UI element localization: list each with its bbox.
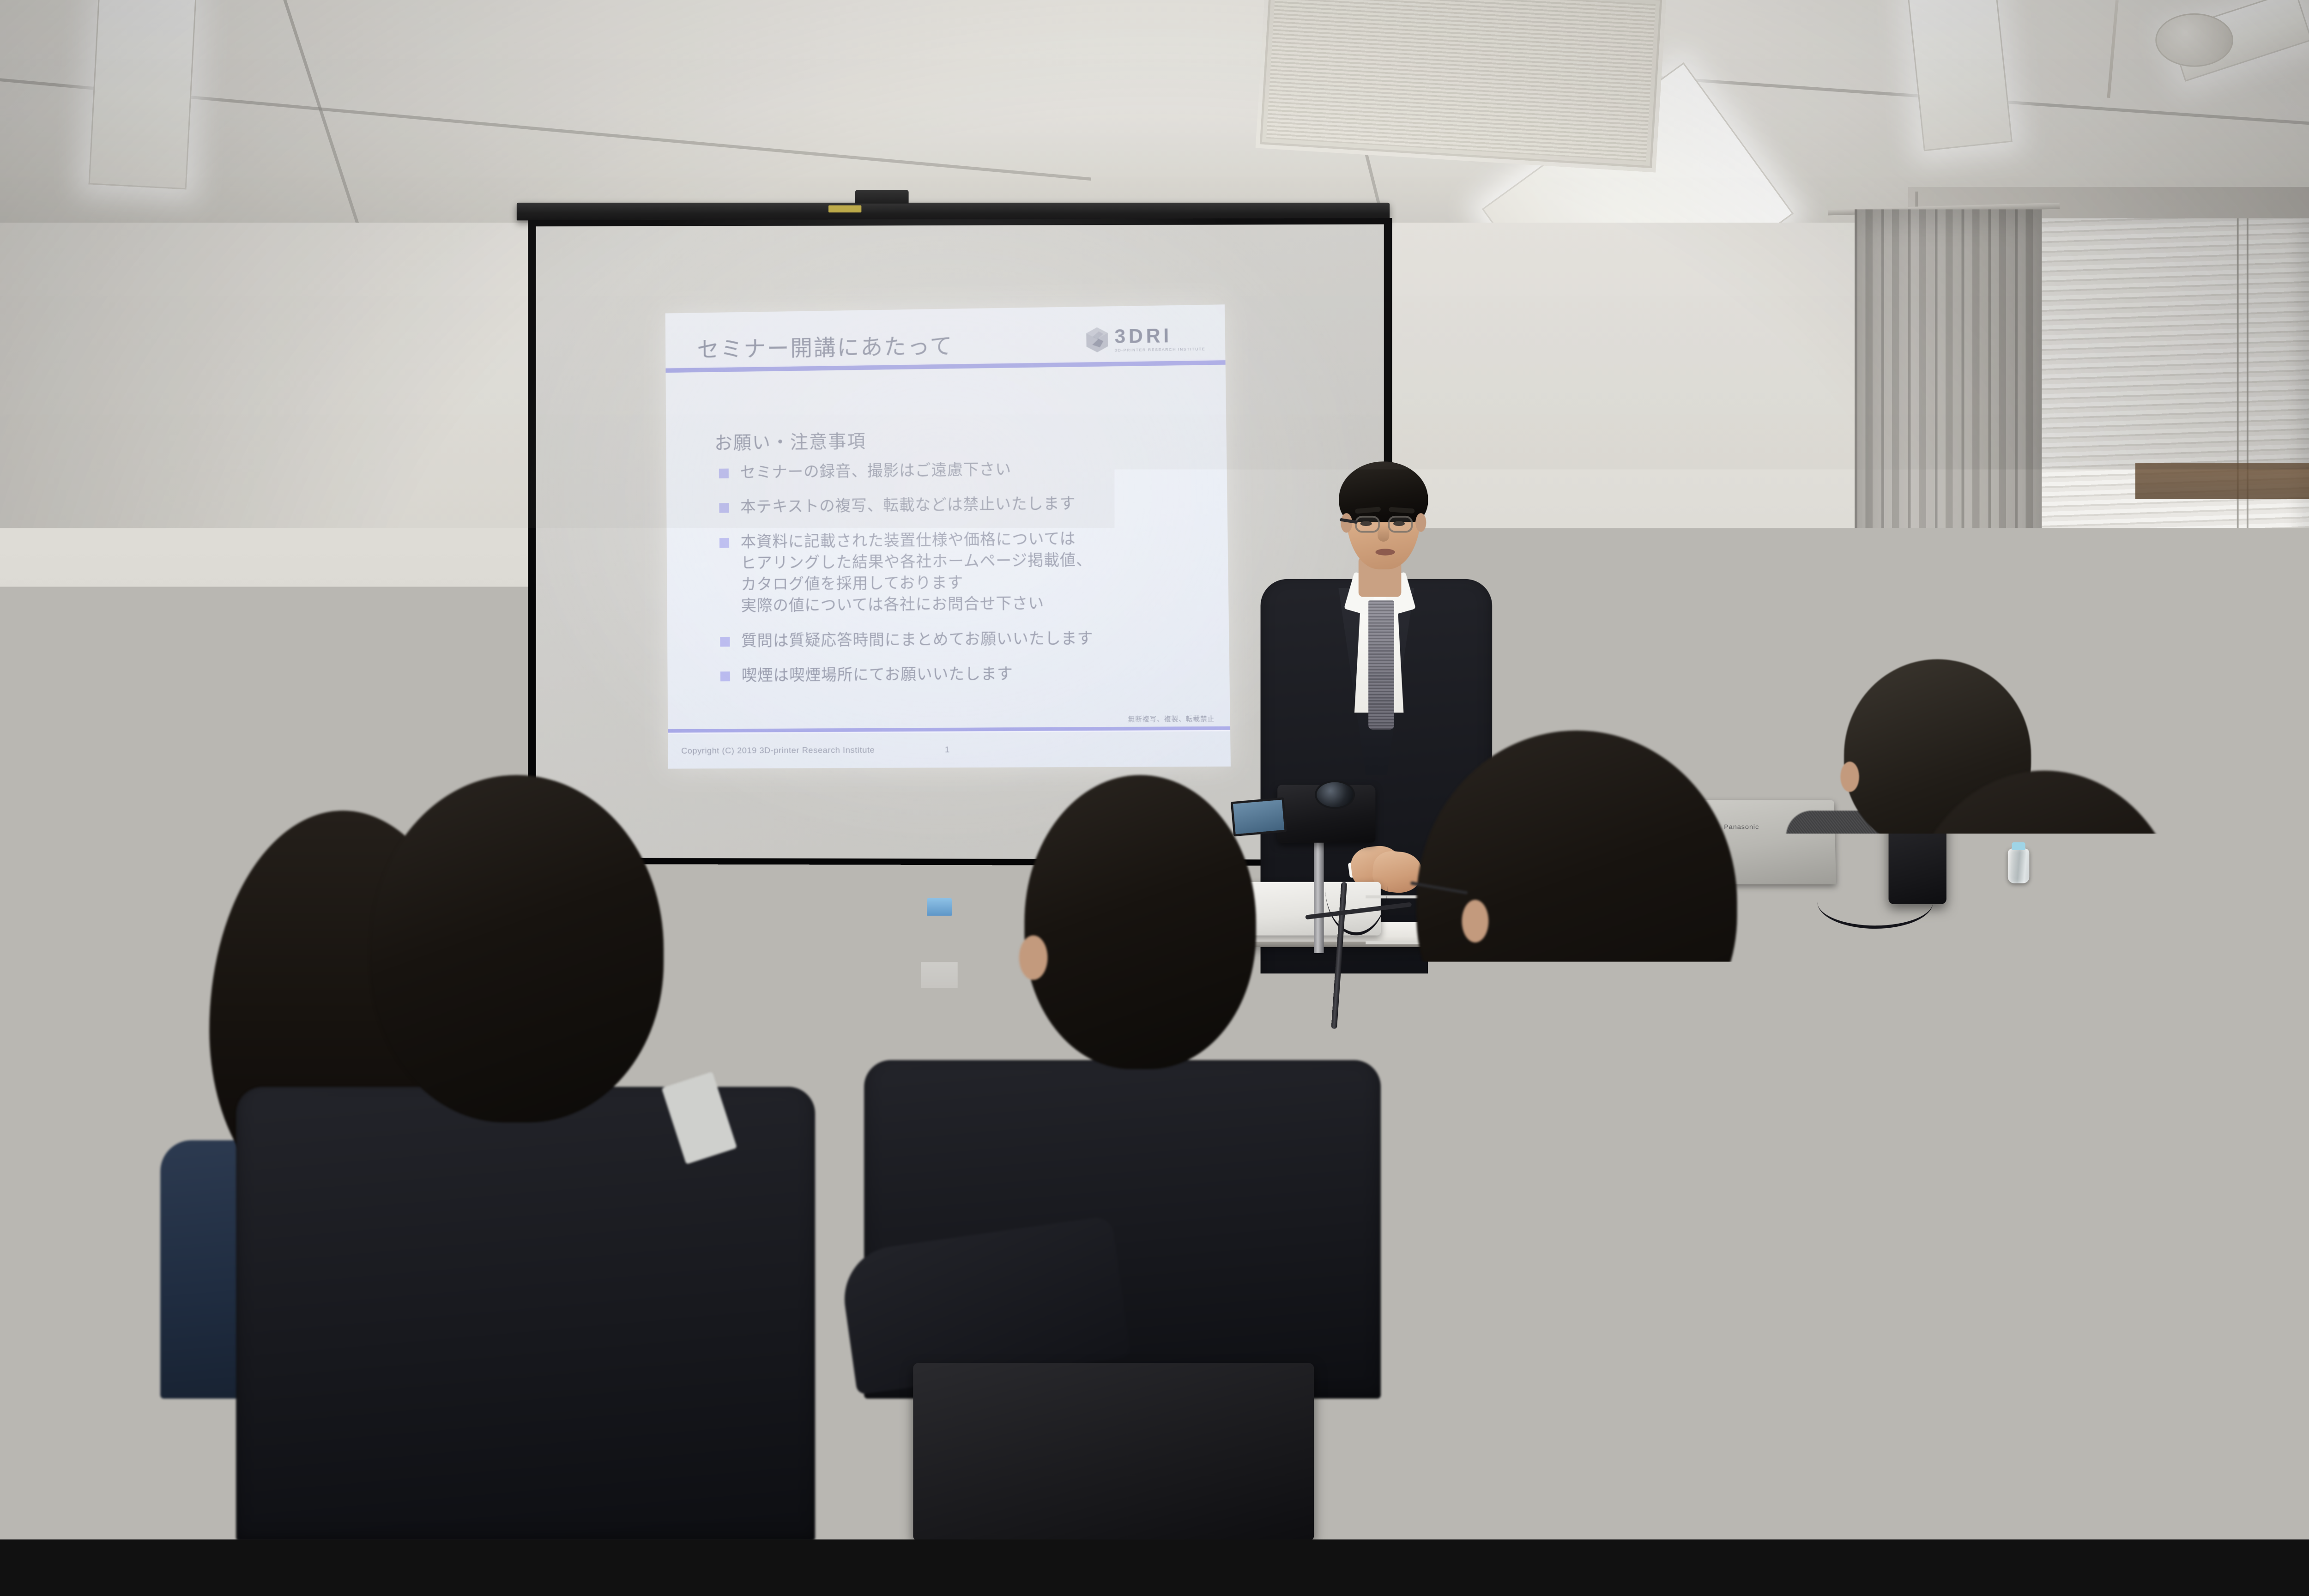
screen-label-tab xyxy=(828,206,861,212)
glasses-icon xyxy=(1388,516,1413,533)
bullet-line: 本資料に記載された装置仕様や価格については xyxy=(741,528,1092,553)
slide-bullet-list: セミナーの録音、撮影はご遠慮下さい 本テキストの複写、転載などは禁止いたします … xyxy=(719,457,1203,700)
attendee-ear xyxy=(1840,762,1859,792)
slide-bottom-rule xyxy=(668,726,1230,734)
ceiling-speaker xyxy=(2155,13,2233,67)
chair[interactable] xyxy=(1800,1203,2031,1408)
attendee-ear xyxy=(2147,940,2178,989)
bullet-square-icon xyxy=(719,469,729,478)
attendee-head xyxy=(370,775,664,1122)
projection-screen-case[interactable] xyxy=(517,203,1390,221)
attendee-front-left xyxy=(236,775,815,1539)
bottle-subbrand-label: SUNTORY xyxy=(2157,1366,2259,1376)
bullet-line: カタログ値を採用しております xyxy=(741,571,1093,596)
blind-cord[interactable] xyxy=(2247,218,2249,851)
attendee-ear xyxy=(1019,935,1048,979)
water-bottle-suntory[interactable]: 天然水 SUNTORY xyxy=(2157,1245,2259,1530)
presenter-nose xyxy=(1378,524,1389,542)
slide-logo-wordmark: 3DRI xyxy=(1114,326,1205,346)
presenter-mouth xyxy=(1375,549,1395,555)
glasses-icon xyxy=(2010,944,2070,997)
ceiling-hanger-rod xyxy=(2107,0,2119,98)
slide-logo: 3DRI 3D-PRINTER RESEARCH INSTITUTE xyxy=(1085,325,1205,353)
slide-bullet: 質問は質疑応答時間にまとめてお願いいたします xyxy=(720,627,1202,652)
presenter-tie xyxy=(1368,600,1394,730)
bullet-line: セミナーの録音、撮影はご遠慮下さい xyxy=(740,459,1011,484)
fluorescent-light xyxy=(1907,0,2013,151)
bullet-line: ヒアリングした結果や各社ホームページ掲載値、 xyxy=(741,550,1092,574)
attendee-ear xyxy=(1462,900,1489,943)
bullet-square-icon xyxy=(720,637,730,647)
blind-cord[interactable] xyxy=(2237,218,2239,851)
bullet-square-icon xyxy=(719,503,729,513)
slide-page-number: 1 xyxy=(945,745,949,755)
glasses-icon xyxy=(1355,516,1380,533)
slide-bullet: 本テキストの複写、転載などは禁止いたします xyxy=(719,492,1200,519)
chair[interactable] xyxy=(682,1038,873,1140)
presenter-ear xyxy=(1341,513,1352,532)
slide-footnote: 無断複写、複製、転載禁止 xyxy=(1128,714,1215,724)
bullet-line: 本テキストの複写、転載などは禁止いたします xyxy=(740,493,1076,518)
attendee-center xyxy=(864,775,1381,1398)
slide-bullet: セミナーの録音、撮影はご遠慮下さい xyxy=(719,457,1200,484)
air-conditioner-vent xyxy=(1256,0,1667,172)
presenter-hair xyxy=(1339,461,1428,522)
slide-heading: お願い・注意事項 xyxy=(714,426,866,455)
bottle-brand-label: 天然水 xyxy=(2157,1378,2259,1401)
fluorescent-light xyxy=(89,0,197,189)
bullet-line: 喫煙は喫煙場所にてお願いいたします xyxy=(742,664,1013,687)
bottle-cap xyxy=(2178,1222,2237,1257)
attendee-head xyxy=(1024,775,1256,1069)
slide-logo-tagline: 3D-PRINTER RESEARCH INSTITUTE xyxy=(1115,347,1205,352)
chair[interactable] xyxy=(1541,1042,1728,1145)
presenter-ear xyxy=(1415,513,1426,532)
bullet-line: 実際の値については各社にお問合せ下さい xyxy=(741,593,1093,617)
bullet-square-icon xyxy=(719,538,729,548)
bullet-square-icon xyxy=(720,671,730,681)
attendee-suit xyxy=(236,1087,815,1539)
slide-bullet: 本資料に記載された装置仕様や価格については ヒアリングした結果や各社ホームページ… xyxy=(719,527,1202,617)
screen-mount-bracket xyxy=(855,190,909,204)
slide-bullet: 喫煙は喫煙場所にてお願いいたします xyxy=(720,662,1203,687)
bullet-line: 質問は質疑応答時間にまとめてお願いいたします xyxy=(741,628,1094,652)
3dri-cube-logo xyxy=(1085,327,1109,353)
presentation-slide: セミナー開講にあたって 3DRI 3D-PRINTER RESEARCH INS… xyxy=(665,304,1231,768)
chair[interactable] xyxy=(913,1363,1314,1539)
window-wood-trim xyxy=(2135,463,2309,499)
slide-copyright: Copyright (C) 2019 3D-printer Research I… xyxy=(681,745,875,756)
slide-title: セミナー開講にあたって xyxy=(697,328,953,364)
seminar-room-photo: セミナー開講にあたって 3DRI 3D-PRINTER RESEARCH INS… xyxy=(0,0,2309,1539)
